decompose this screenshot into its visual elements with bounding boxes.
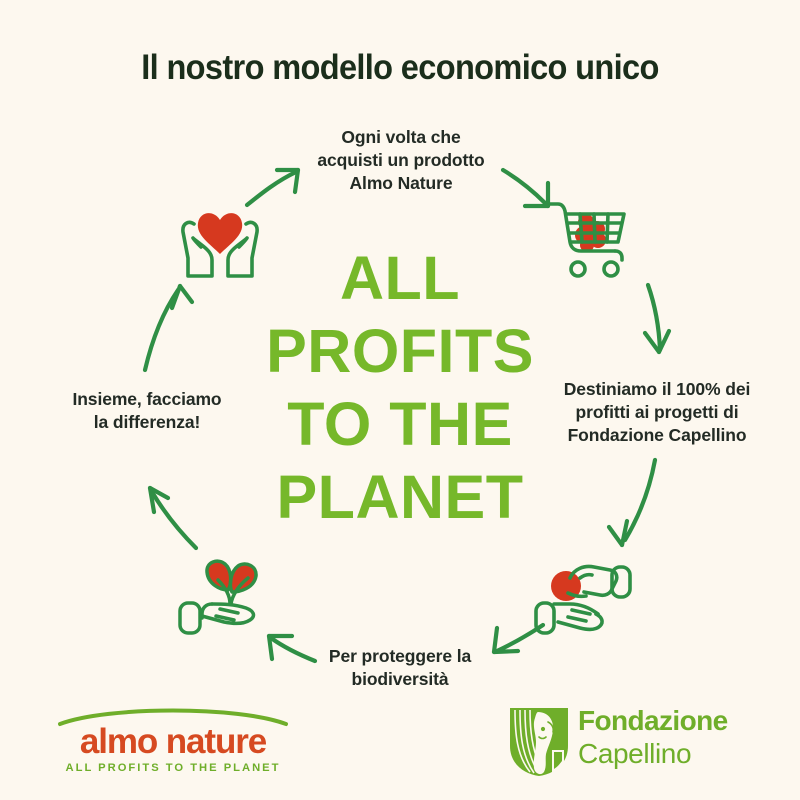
shopping-cart-icon xyxy=(540,190,640,282)
step-biodiversity-caption: Per proteggere la biodiversità xyxy=(300,645,500,691)
caption-line: Insieme, facciamo xyxy=(42,388,252,411)
almo-nature-logo: almo nature ALL PROFITS TO THE PLANET xyxy=(48,704,298,780)
arrow-up-left-icon xyxy=(150,488,196,548)
page-title: Il nostro modello economico unico xyxy=(28,48,772,88)
caption-line: biodiversità xyxy=(300,668,500,691)
fondazione-line-2: Capellino xyxy=(578,737,778,770)
almo-nature-wordmark: almo nature xyxy=(48,722,298,762)
fondazione-emblem-icon xyxy=(508,706,570,778)
fondazione-wordmark: Fondazione Capellino xyxy=(578,704,778,770)
caption-line: Per proteggere la xyxy=(300,645,500,668)
hand-holding-sprout-icon xyxy=(176,546,284,644)
arrow-down-icon xyxy=(645,285,669,352)
arrow-down-left-long-icon xyxy=(609,460,655,545)
caption-line: Destiniamo il 100% dei xyxy=(546,378,768,401)
step-purchase-caption: Ogni volta che acquisti un prodotto Almo… xyxy=(296,126,506,195)
caption-line: Fondazione Capellino xyxy=(546,424,768,447)
headline-line-2: PROFITS xyxy=(245,315,555,388)
infographic-canvas: Il nostro modello economico unico xyxy=(0,0,800,800)
step-profits-caption: Destiniamo il 100% dei profitti ai proge… xyxy=(546,378,768,447)
center-headline: ALL PROFITS TO THE PLANET xyxy=(245,242,555,534)
fondazione-line-1: Fondazione xyxy=(578,704,778,737)
headline-line-1: ALL xyxy=(245,242,555,315)
caption-line: profitti ai progetti di xyxy=(546,401,768,424)
fondazione-capellino-logo: Fondazione Capellino xyxy=(506,702,776,780)
caption-line: Ogni volta che xyxy=(296,126,506,149)
hands-holding-heart-icon xyxy=(168,186,272,284)
step-together-caption: Insieme, facciamo la differenza! xyxy=(42,388,252,434)
hand-giving-coin-icon xyxy=(528,548,638,644)
caption-line: la differenza! xyxy=(42,411,252,434)
headline-line-3: TO THE xyxy=(245,388,555,461)
almo-nature-tagline: ALL PROFITS TO THE PLANET xyxy=(48,762,298,774)
caption-line: acquisti un prodotto xyxy=(296,149,506,172)
caption-line: Almo Nature xyxy=(296,172,506,195)
arrow-up-icon xyxy=(145,286,192,370)
headline-line-4: PLANET xyxy=(245,461,555,534)
